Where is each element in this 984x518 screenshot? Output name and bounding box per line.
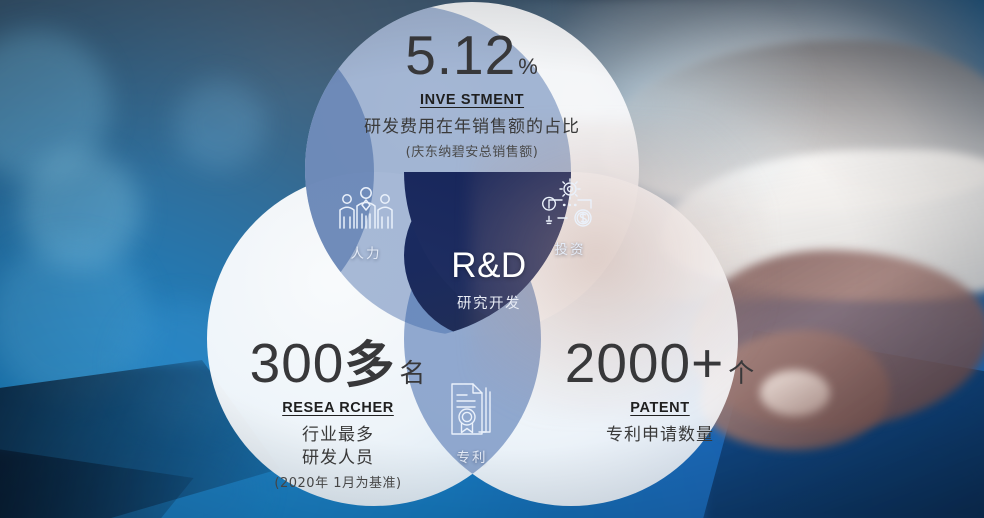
stat-desc-investment: 研发费用在年销售额的占比 <box>322 116 622 139</box>
certificate-docs-icon <box>443 382 501 440</box>
lens-investment: 投资 <box>522 178 618 258</box>
stat-block-patent: 2000+个 PATENT 专利申请数量 <box>540 336 780 447</box>
gear-bulb-coin-icon <box>537 178 603 232</box>
people-group-icon <box>335 186 397 236</box>
stat-number: 5.12 <box>405 24 516 86</box>
stat-block-investment: 5.12% INVE STMENT 研发费用在年销售额的占比 (庆东纳碧安总销售… <box>322 28 622 160</box>
stat-block-researcher: 300多名 RESEA RCHER 行业最多 研发人员 (2020年 1月为基准… <box>222 336 454 491</box>
stat-unit: % <box>518 54 539 79</box>
stat-value-researcher: 300多名 <box>222 336 454 391</box>
stat-value-patent: 2000+个 <box>540 336 780 391</box>
stat-label-patent: PATENT <box>540 400 780 416</box>
stat-value-investment: 5.12% <box>322 28 622 83</box>
stat-number-suffix: 多 <box>344 336 395 394</box>
stat-unit: 名 <box>399 359 426 389</box>
stat-desc-researcher-line1: 行业最多 <box>222 424 454 447</box>
stat-unit: 个 <box>728 359 755 389</box>
stat-desc-patent: 专利申请数量 <box>540 424 780 447</box>
lens-caption-patent: 专利 <box>424 446 520 466</box>
stat-number: 2000+ <box>565 332 724 394</box>
lens-patent: 专利 <box>424 382 520 466</box>
stat-note-researcher: (2020年 1月为基准) <box>222 472 454 491</box>
stat-number: 300 <box>250 332 345 394</box>
infographic-canvas: 5.12% INVE STMENT 研发费用在年销售额的占比 (庆东纳碧安总销售… <box>0 0 984 518</box>
stat-label-investment: INVE STMENT <box>322 92 622 108</box>
lens-caption-invest: 投资 <box>522 238 618 258</box>
stat-note-investment: (庆东纳碧安总销售额) <box>322 141 622 160</box>
lens-human-resources: 人力 <box>318 186 414 262</box>
stat-desc-researcher-line2: 研发人员 <box>222 447 454 470</box>
lens-caption-hr: 人力 <box>318 242 414 262</box>
stat-label-researcher: RESEA RCHER <box>222 400 454 416</box>
